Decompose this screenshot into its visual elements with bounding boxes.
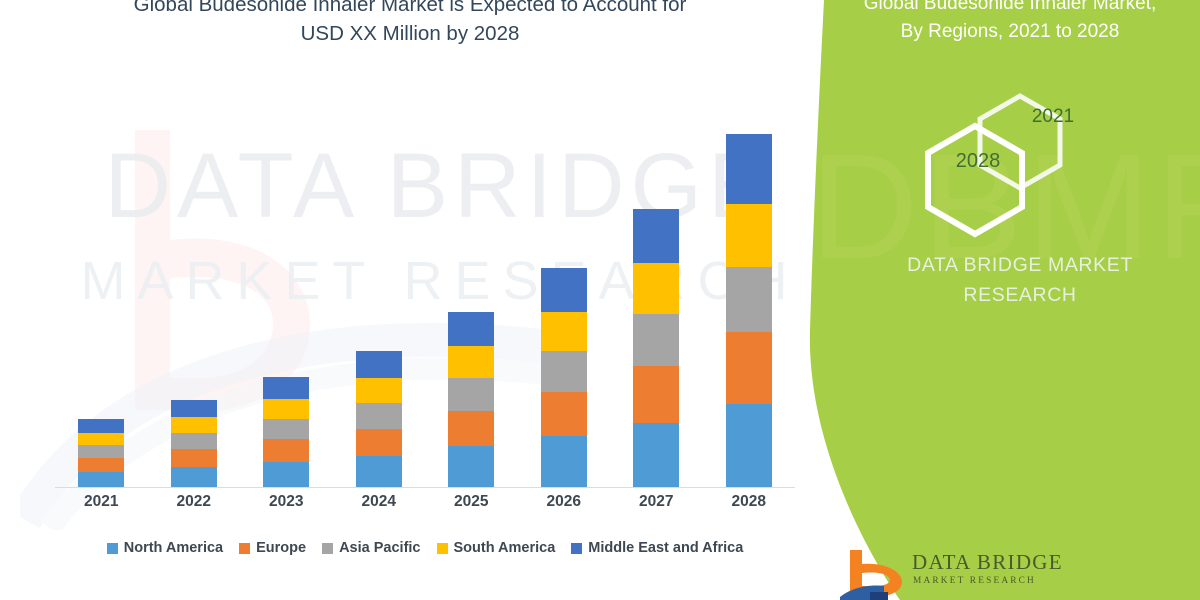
stacked-bar[interactable] [171, 400, 217, 488]
panel-title-line-2: By Regions, 2021 to 2028 [820, 18, 1200, 46]
legend-swatch-icon [437, 543, 448, 554]
bar-segment[interactable] [171, 417, 217, 433]
data-bridge-logo-icon [840, 548, 906, 600]
bar-segment[interactable] [171, 400, 217, 417]
legend-item-south-america[interactable]: South America [437, 540, 556, 556]
bar-segment[interactable] [356, 456, 402, 488]
x-axis-tick-2026: 2026 [519, 493, 609, 511]
bar-group-2022[interactable] [149, 95, 239, 488]
legend-swatch-icon [107, 543, 118, 554]
logo-tagline: MARKET RESEARCH [913, 576, 1036, 586]
bar-segment[interactable] [356, 429, 402, 457]
legend-item-middle-east-and-africa[interactable]: Middle East and Africa [571, 540, 743, 556]
bar-segment[interactable] [448, 411, 494, 447]
stacked-bar[interactable] [541, 268, 587, 488]
bar-segment[interactable] [171, 433, 217, 450]
stacked-bar[interactable] [356, 351, 402, 488]
x-axis-line [55, 487, 795, 488]
bar-segment[interactable] [263, 462, 309, 488]
bar-segment[interactable] [448, 346, 494, 378]
panel-title: Global Budesonide Inhaler Market, By Reg… [820, 0, 1200, 46]
legend-item-asia-pacific[interactable]: Asia Pacific [322, 540, 420, 556]
bar-segment[interactable] [356, 351, 402, 378]
bar-group-2023[interactable] [241, 95, 331, 488]
chart-panel: DATA BRIDGE MARKET RESEARCH Global Budes… [0, 0, 880, 600]
chart-legend: North AmericaEuropeAsia PacificSouth Ame… [55, 540, 795, 556]
stacked-bar[interactable] [726, 134, 772, 488]
chart-title: Global Budesonide Inhaler Market is Expe… [60, 0, 760, 48]
x-axis-tick-2023: 2023 [241, 493, 331, 511]
legend-item-europe[interactable]: Europe [239, 540, 306, 556]
legend-label: North America [124, 540, 223, 556]
bar-segment[interactable] [263, 419, 309, 440]
brand-line-1: DATA BRIDGE MARKET [840, 250, 1200, 280]
bar-segment[interactable] [171, 449, 217, 467]
bar-segment[interactable] [78, 458, 124, 472]
legend-label: South America [454, 540, 556, 556]
bar-segment[interactable] [633, 366, 679, 422]
stacked-bar[interactable] [633, 209, 679, 488]
bar-segment[interactable] [726, 204, 772, 267]
bar-segment[interactable] [541, 436, 587, 488]
brand-line-2: RESEARCH [840, 280, 1200, 310]
stacked-bar[interactable] [263, 377, 309, 488]
bar-segment[interactable] [726, 134, 772, 203]
bar-segment[interactable] [263, 439, 309, 462]
stacked-bar[interactable] [78, 419, 124, 488]
bar-segment[interactable] [78, 472, 124, 488]
x-axis-tick-2024: 2024 [334, 493, 424, 511]
bar-segment[interactable] [541, 312, 587, 352]
legend-label: Asia Pacific [339, 540, 420, 556]
bar-group-2026[interactable] [519, 95, 609, 488]
bar-segment[interactable] [726, 404, 772, 488]
hexagon-group: 2028 2021 [900, 88, 1200, 238]
branding-panel: DBMR Global Budesonide Inhaler Market, B… [780, 0, 1200, 600]
x-axis-tick-2027: 2027 [611, 493, 701, 511]
data-bridge-logo: DATA BRIDGE MARKET RESEARCH [840, 548, 1200, 600]
hexagon-2021-label: 2021 [1008, 106, 1098, 128]
bar-group-2025[interactable] [426, 95, 516, 488]
bar-segment[interactable] [541, 268, 587, 312]
bar-segment[interactable] [356, 378, 402, 403]
x-axis-tick-labels: 20212022202320242025202620272028 [55, 493, 795, 511]
bar-group-2027[interactable] [611, 95, 701, 488]
x-axis-tick-2022: 2022 [149, 493, 239, 511]
bar-segment[interactable] [263, 399, 309, 419]
bar-segment[interactable] [633, 314, 679, 367]
bar-segment[interactable] [541, 351, 587, 392]
bar-group-2028[interactable] [704, 95, 794, 488]
bar-segment[interactable] [78, 433, 124, 446]
legend-swatch-icon [571, 543, 582, 554]
x-axis-tick-2021: 2021 [56, 493, 146, 511]
panel-title-line-1: Global Budesonide Inhaler Market, [820, 0, 1200, 18]
bar-series-container [55, 95, 795, 488]
bar-segment[interactable] [78, 445, 124, 458]
bar-segment[interactable] [726, 332, 772, 403]
legend-label: Europe [256, 540, 306, 556]
bar-group-2024[interactable] [334, 95, 424, 488]
bar-segment[interactable] [541, 392, 587, 437]
legend-label: Middle East and Africa [588, 540, 743, 556]
bar-group-2021[interactable] [56, 95, 146, 488]
bar-segment[interactable] [726, 267, 772, 332]
hexagon-2028-label: 2028 [928, 150, 1028, 173]
bar-segment[interactable] [171, 467, 217, 488]
bar-segment[interactable] [633, 423, 679, 488]
bar-segment[interactable] [448, 446, 494, 488]
bar-segment[interactable] [633, 209, 679, 263]
bar-segment[interactable] [633, 263, 679, 314]
logo-name: DATA BRIDGE [912, 550, 1063, 575]
bar-segment[interactable] [448, 312, 494, 347]
bar-segment[interactable] [78, 419, 124, 433]
chart-title-line-1: Global Budesonide Inhaler Market is Expe… [60, 0, 760, 19]
x-axis-tick-2028: 2028 [704, 493, 794, 511]
legend-swatch-icon [239, 543, 250, 554]
legend-item-north-america[interactable]: North America [107, 540, 223, 556]
stacked-bar[interactable] [448, 312, 494, 488]
legend-swatch-icon [322, 543, 333, 554]
brand-name: DATA BRIDGE MARKET RESEARCH [840, 250, 1200, 310]
bar-segment[interactable] [263, 377, 309, 399]
bar-segment[interactable] [448, 378, 494, 411]
chart-title-line-2: USD XX Million by 2028 [60, 19, 760, 48]
plot-area [55, 95, 795, 488]
x-axis-tick-2025: 2025 [426, 493, 516, 511]
bar-segment[interactable] [356, 403, 402, 429]
